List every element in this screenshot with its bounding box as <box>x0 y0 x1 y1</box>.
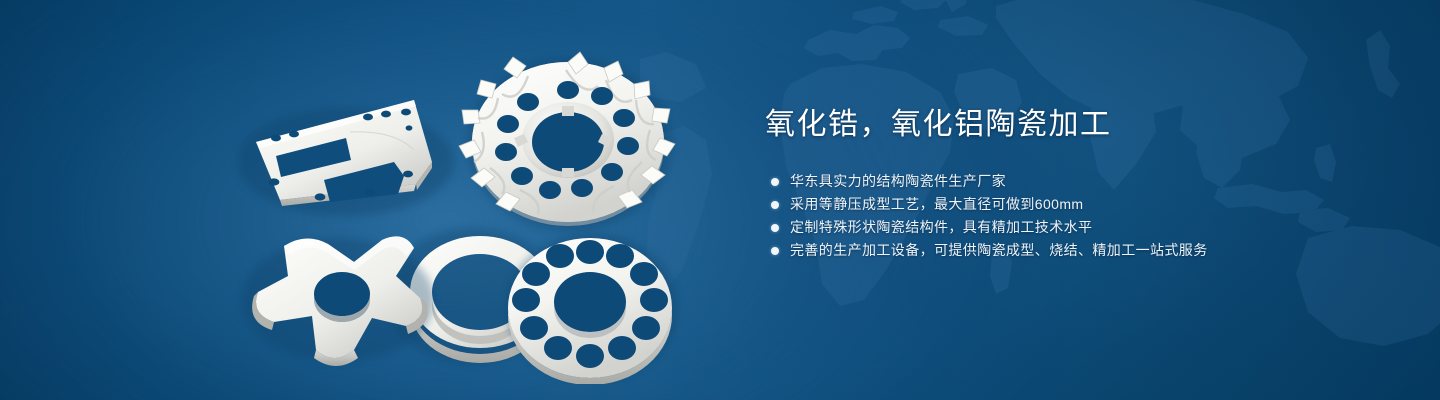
product-image-cluster <box>218 34 738 384</box>
list-item: 定制特殊形状陶瓷结构件，具有精加工技术水平 <box>771 216 1385 239</box>
bullet-dot-icon <box>771 178 779 186</box>
product-ceramic-impeller <box>459 52 675 230</box>
feature-text: 定制特殊形状陶瓷结构件，具有精加工技术水平 <box>790 216 1092 239</box>
banner-text-panel: 氧化锆，氧化铝陶瓷加工 华东具实力的结构陶瓷件生产厂家 采用等静压成型工艺，最大… <box>765 104 1385 262</box>
page-title: 氧化锆，氧化铝陶瓷加工 <box>765 104 1385 146</box>
feature-text: 完善的生产加工设备，可提供陶瓷成型、烧结、精加工一站式服务 <box>790 239 1208 262</box>
product-ceramic-cross-plate <box>242 236 434 366</box>
list-item: 华东具实力的结构陶瓷件生产厂家 <box>771 170 1385 193</box>
bullet-dot-icon <box>771 201 779 209</box>
feature-text: 华东具实力的结构陶瓷件生产厂家 <box>790 170 1006 193</box>
product-ceramic-perforated-disc <box>506 234 678 384</box>
feature-list: 华东具实力的结构陶瓷件生产厂家 采用等静压成型工艺，最大直径可做到600mm 定… <box>765 170 1385 262</box>
bullet-dot-icon <box>771 247 779 255</box>
product-ceramic-plate <box>238 100 454 216</box>
hero-banner: 氧化锆，氧化铝陶瓷加工 华东具实力的结构陶瓷件生产厂家 采用等静压成型工艺，最大… <box>0 0 1440 400</box>
list-item: 采用等静压成型工艺，最大直径可做到600mm <box>771 193 1385 216</box>
bullet-dot-icon <box>771 224 779 232</box>
feature-text: 采用等静压成型工艺，最大直径可做到600mm <box>790 193 1083 216</box>
list-item: 完善的生产加工设备，可提供陶瓷成型、烧结、精加工一站式服务 <box>771 239 1385 262</box>
